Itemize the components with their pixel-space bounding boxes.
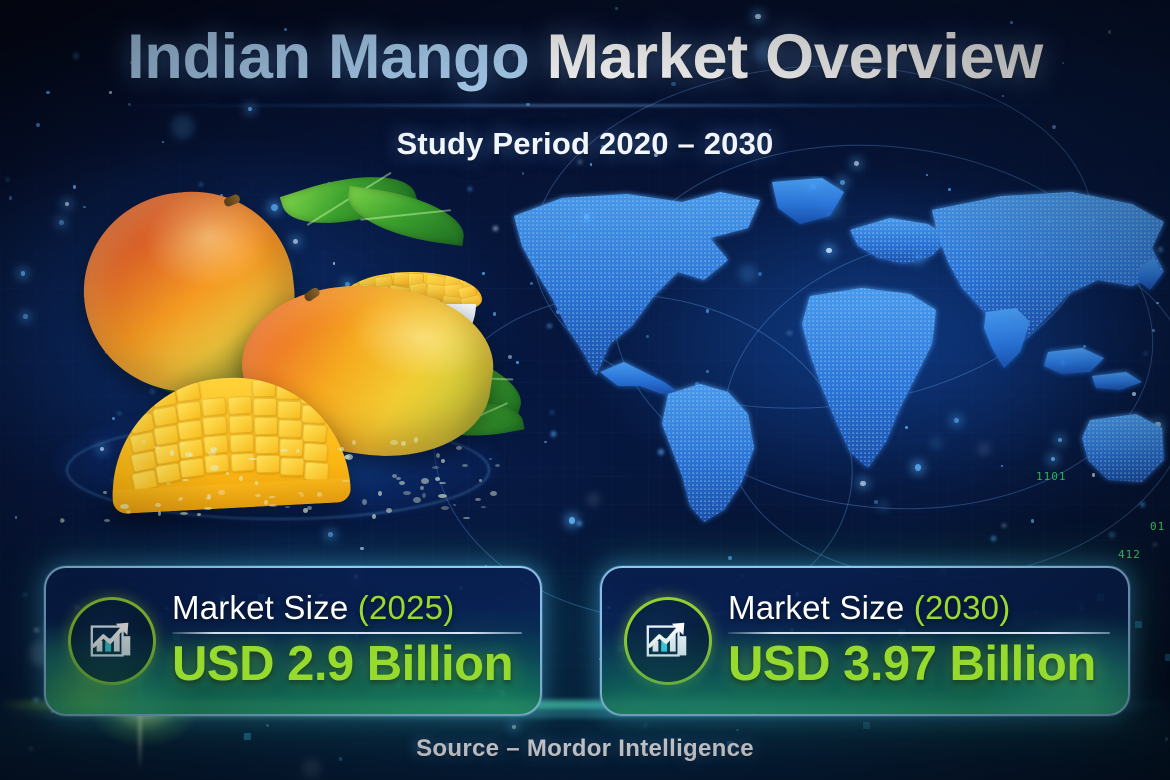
stat-label-text: Market Size xyxy=(728,589,914,626)
stat-card-label: Market Size (2030) xyxy=(728,591,1110,626)
stat-card-value: USD 2.9 Billion xyxy=(172,638,522,691)
stat-label-text: Market Size xyxy=(172,589,358,626)
stat-card-value: USD 3.97 Billion xyxy=(728,638,1110,691)
stat-card-text: Market Size (2025) USD 2.9 Billion xyxy=(172,591,540,692)
stat-card-label: Market Size (2025) xyxy=(172,591,522,626)
code-text: 1101 xyxy=(1036,470,1067,483)
infographic-canvas: Indian Mango Market Overview Study Perio… xyxy=(0,0,1170,780)
code-text: 01 xyxy=(1150,520,1165,533)
stat-card-divider xyxy=(728,632,1110,634)
stat-label-year: (2030) xyxy=(914,589,1011,626)
stat-card-divider xyxy=(172,632,522,634)
stat-label-year: (2025) xyxy=(358,589,455,626)
code-text: 412 xyxy=(1118,548,1141,561)
stat-card-text: Market Size (2030) USD 3.97 Billion xyxy=(728,591,1128,692)
